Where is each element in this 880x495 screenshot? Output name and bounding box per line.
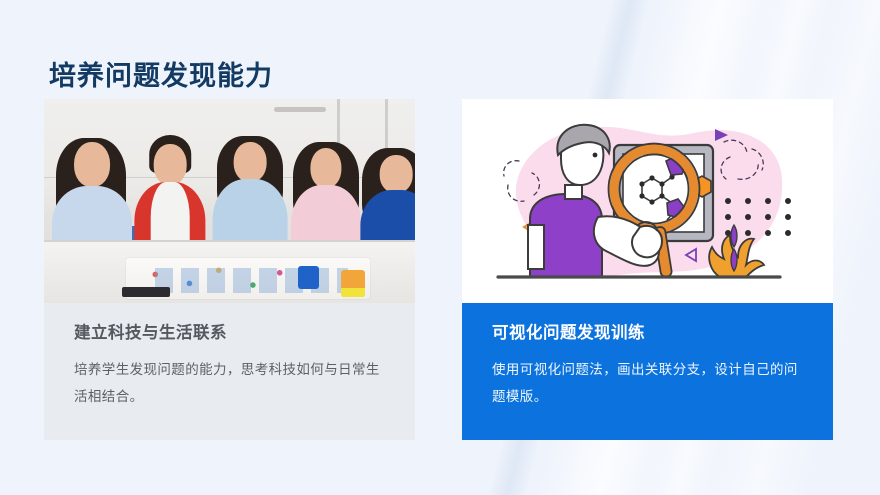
person-sleeve-left [528,225,544,269]
card-body-right: 可视化问题发现训练 使用可视化问题法，画出关联分支，设计自己的问题模版。 [462,303,833,410]
card-heading-left: 建立科技与生活联系 [74,319,389,343]
card-heading-right: 可视化问题发现训练 [492,319,807,343]
illustration-svg [462,99,833,303]
head-shape [310,148,341,188]
students-collaborating-photo [44,99,415,303]
card-body-left: 建立科技与生活联系 培养学生发现问题的能力，思考科技如何与日常生活相结合。 [44,303,415,410]
magnifier-molecule-illustration [462,99,833,303]
pen-holder-orange [341,270,365,297]
slide-canvas: 培养问题发现能力 [0,0,880,495]
paper-lines-decor [155,268,348,292]
person-eye [593,153,598,158]
notebook-shape [122,287,170,297]
head-shape [154,144,187,185]
head-shape [74,142,110,187]
illustration-scene [462,99,833,303]
card-text-right: 使用可视化问题法，画出关联分支，设计自己的问题模版。 [492,356,807,410]
photo-scene [44,99,415,303]
content-card-right[interactable]: 可视化问题发现训练 使用可视化问题法，画出关联分支，设计自己的问题模版。 [462,99,833,440]
card-text-left: 培养学生发现问题的能力，思考科技如何与日常生活相结合。 [74,356,389,410]
pen-holder-blue [298,266,318,288]
page-title: 培养问题发现能力 [49,54,273,93]
content-card-left[interactable]: 建立科技与生活联系 培养学生发现问题的能力，思考科技如何与日常生活相结合。 [44,99,415,440]
ceiling-fixture-decor [274,107,326,112]
head-shape [234,142,267,182]
person-neck [565,185,582,199]
head-shape [380,155,413,192]
